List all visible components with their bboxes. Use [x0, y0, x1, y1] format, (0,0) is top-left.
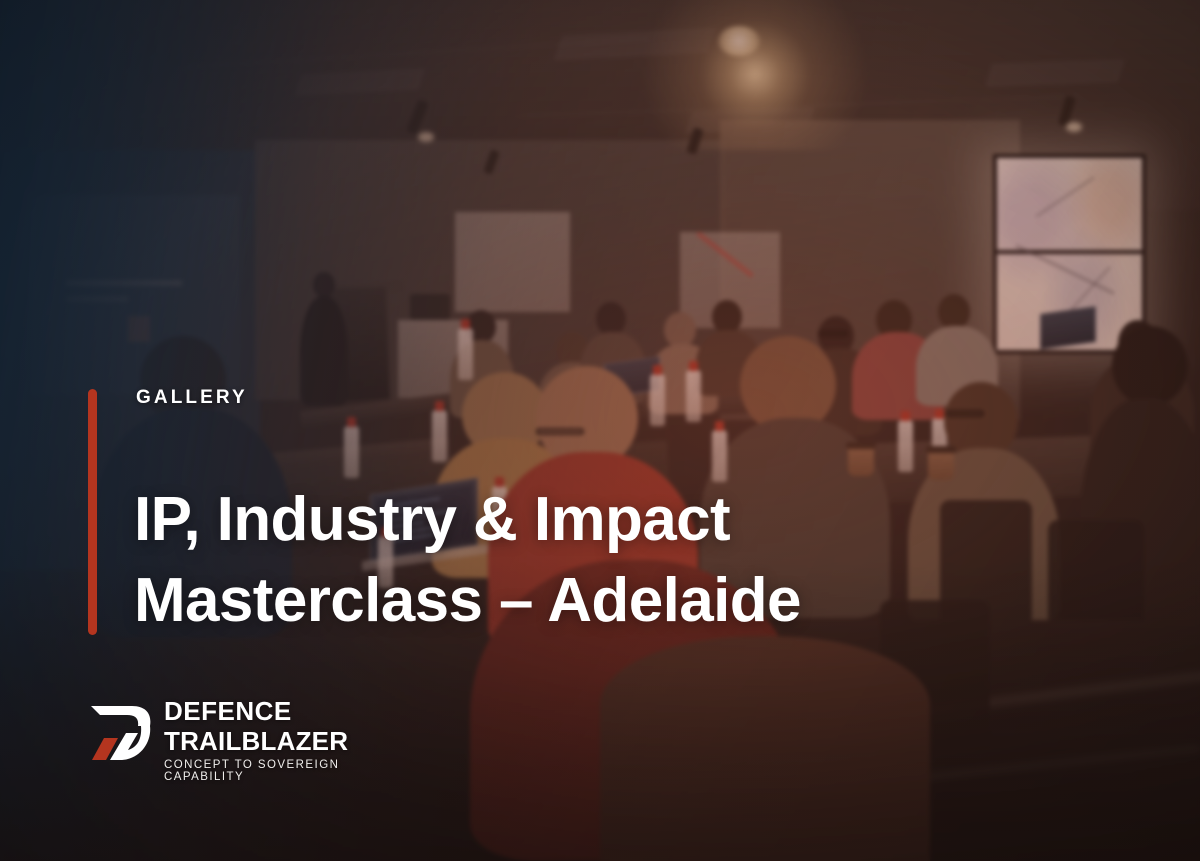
category-eyebrow: GALLERY [136, 388, 248, 407]
logo-line-2: TRAILBLAZER [164, 728, 390, 754]
logo-tagline: CONCEPT TO SOVEREIGN CAPABILITY [164, 760, 390, 783]
page-title: IP, Industry & Impact Masterclass – Adel… [134, 480, 994, 641]
logo-wordmark: DEFENCE TRAILBLAZER CONCEPT TO SOVEREIGN… [164, 698, 390, 783]
logo-line-1: DEFENCE [164, 698, 390, 724]
gallery-hero-banner: GALLERY IP, Industry & Impact Masterclas… [0, 0, 1200, 861]
accent-bar [88, 389, 97, 635]
defence-trailblazer-d-mark-icon [88, 700, 154, 766]
brand-logo[interactable]: DEFENCE TRAILBLAZER CONCEPT TO SOVEREIGN… [88, 698, 388, 770]
